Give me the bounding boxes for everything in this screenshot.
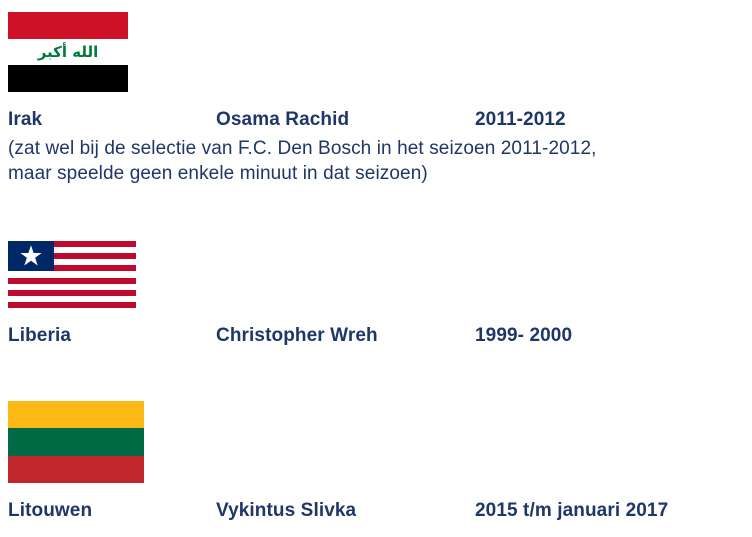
player-nationality-list: الله أكبر Irak Osama Rachid 2011-2012 (z… (0, 0, 752, 537)
player-name-irak: Osama Rachid (216, 108, 349, 132)
star-icon (20, 245, 42, 267)
country-name-irak: Irak (8, 108, 42, 132)
note-irak-line-1: (zat wel bij de selectie van F.C. Den Bo… (8, 136, 738, 161)
player-name-litouwen: Vykintus Slivka (216, 499, 356, 523)
entry-litouwen: Litouwen Vykintus Slivka 2015 t/m januar… (0, 391, 752, 537)
entry-liberia: Liberia Christopher Wreh 1999- 2000 (0, 231, 752, 361)
liberia-stripe-11 (8, 302, 136, 308)
lithuania-flag-red-band (8, 456, 144, 483)
note-irak: (zat wel bij de selectie van F.C. Den Bo… (8, 136, 738, 186)
iraq-flag-red-band (8, 12, 128, 39)
liberia-flag-canton (8, 241, 54, 271)
entry-liberia-columns: Liberia Christopher Wreh 1999- 2000 (0, 324, 752, 348)
country-name-litouwen: Litouwen (8, 499, 92, 523)
lithuania-flag-graphic (8, 401, 144, 483)
liberia-flag-graphic (8, 241, 136, 308)
lithuania-flag (8, 401, 144, 483)
period-irak: 2011-2012 (475, 108, 566, 132)
iraq-flag-takbir-text: الله أكبر (8, 39, 128, 65)
note-irak-line-2: maar speelde geen enkele minuut in dat s… (8, 161, 738, 186)
entry-irak-columns: Irak Osama Rachid 2011-2012 (0, 108, 752, 132)
entry-irak: الله أكبر Irak Osama Rachid 2011-2012 (z… (0, 0, 752, 200)
iraq-flag-graphic: الله أكبر (8, 12, 128, 92)
iraq-flag: الله أكبر (8, 12, 128, 92)
iraq-flag-black-band (8, 65, 128, 92)
country-name-liberia: Liberia (8, 324, 71, 348)
period-liberia: 1999- 2000 (475, 324, 572, 348)
entry-litouwen-columns: Litouwen Vykintus Slivka 2015 t/m januar… (0, 499, 752, 523)
lithuania-flag-yellow-band (8, 401, 144, 428)
lithuania-flag-green-band (8, 428, 144, 455)
period-litouwen: 2015 t/m januari 2017 (475, 499, 668, 523)
liberia-flag (8, 241, 136, 308)
player-name-liberia: Christopher Wreh (216, 324, 378, 348)
